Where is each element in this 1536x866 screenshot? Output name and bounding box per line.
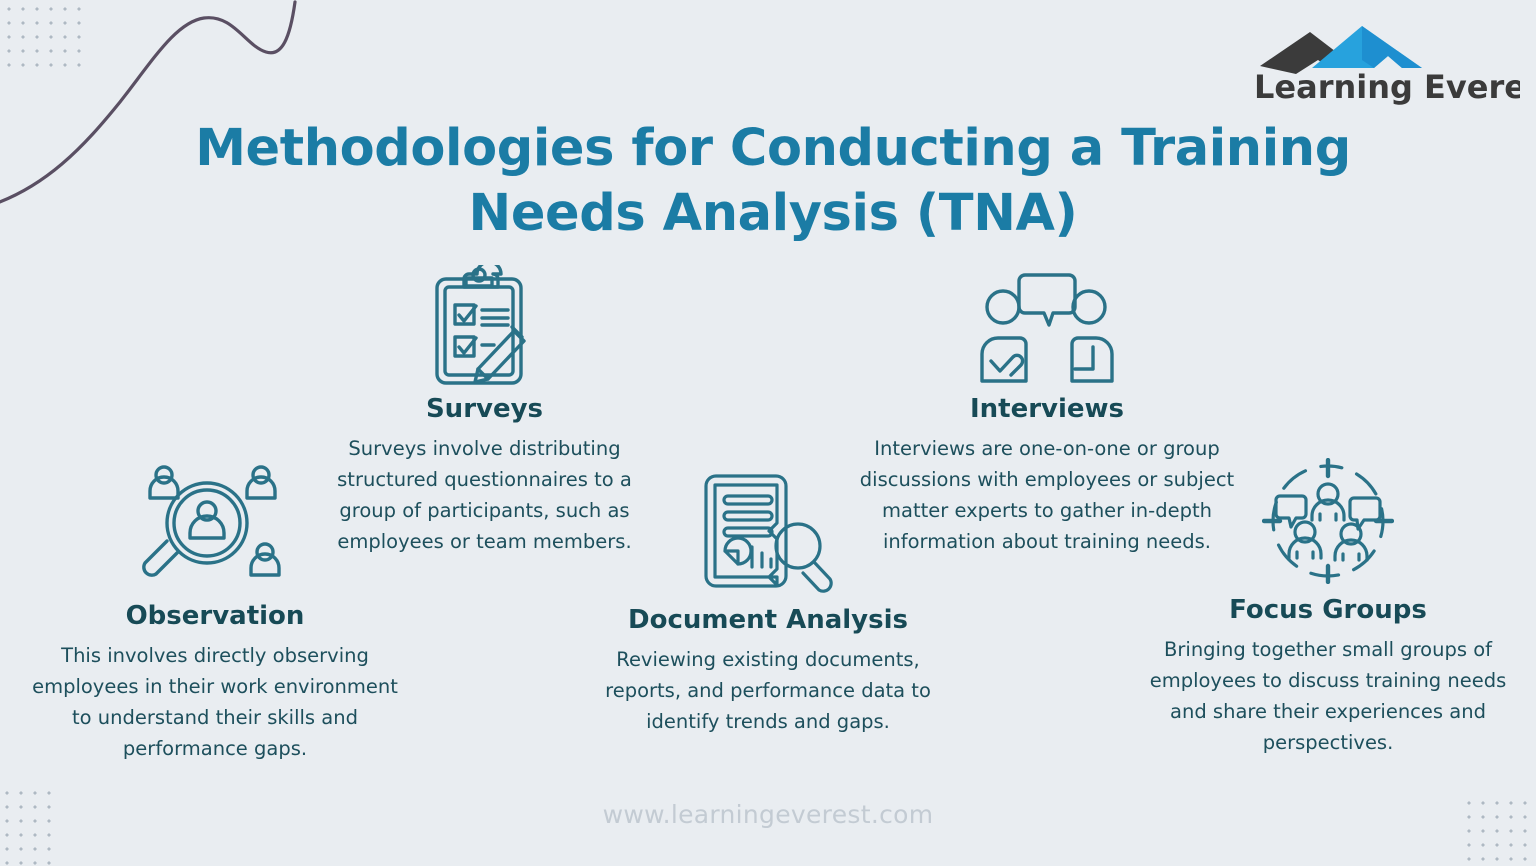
magnifier-people-icon — [30, 455, 400, 590]
card-observation-body: This involves directly observing employe… — [30, 640, 400, 764]
infographic-canvas: Learning Everest Methodologies for Condu… — [0, 0, 1536, 864]
card-interviews-heading: Interviews — [852, 393, 1242, 425]
card-observation: Observation This involves directly obser… — [30, 455, 400, 764]
page-title: Methodologies for Conducting a Training … — [118, 116, 1428, 246]
footer-website-url[interactable]: www.learningeverest.com — [0, 800, 1536, 829]
card-surveys-heading: Surveys — [322, 393, 647, 425]
card-focus-groups: Focus Groups Bringing together small gro… — [1148, 452, 1508, 758]
dot-grid-top-left-icon — [2, 2, 88, 74]
document-charts-magnifier-icon — [592, 462, 944, 594]
mountain-peak-icon — [1260, 26, 1422, 74]
brand-logo-text: Learning Everest — [1254, 68, 1520, 106]
card-document-analysis-body: Reviewing existing documents, reports, a… — [592, 644, 944, 737]
card-observation-heading: Observation — [30, 600, 400, 632]
card-document-analysis-heading: Document Analysis — [592, 604, 944, 636]
target-group-speech-icon — [1148, 452, 1508, 584]
card-focus-groups-body: Bringing together small groups of employ… — [1148, 634, 1508, 758]
card-document-analysis: Document Analysis Reviewing existing doc… — [592, 462, 944, 737]
card-focus-groups-heading: Focus Groups — [1148, 594, 1508, 626]
brand-logo[interactable]: Learning Everest — [1252, 22, 1520, 106]
two-people-speech-bubble-icon — [852, 262, 1242, 387]
clipboard-checklist-pencil-icon — [322, 262, 647, 387]
